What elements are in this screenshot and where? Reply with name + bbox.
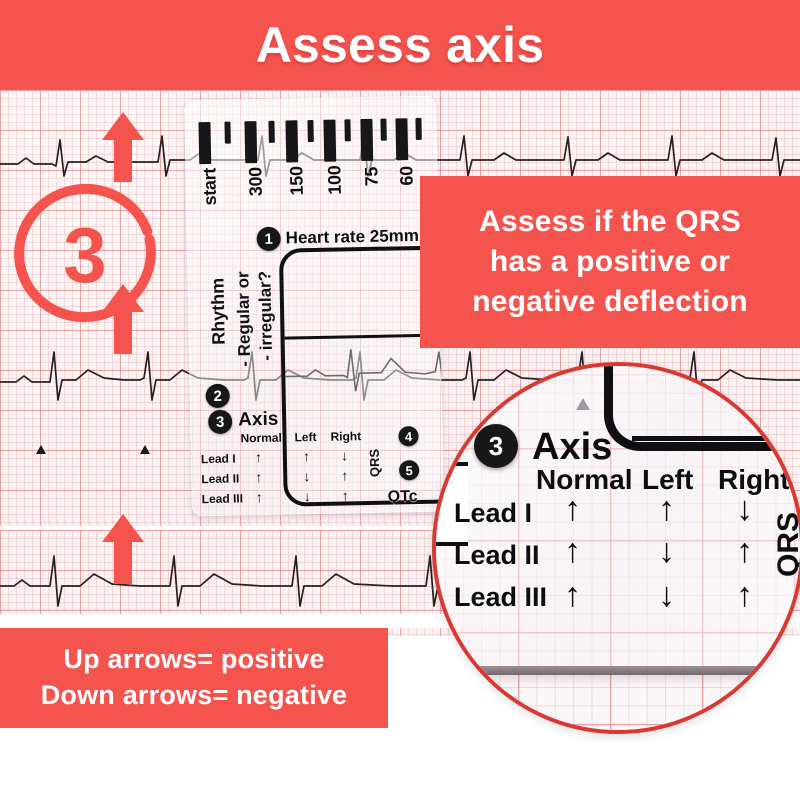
magnified-qrs-label: QRS (772, 512, 800, 577)
callout-qrs-deflection: Assess if the QRS has a positive or nega… (420, 176, 800, 348)
ruler-axis-col-normal: Normal (240, 431, 282, 446)
ruler-axis-col-right: Right (330, 429, 361, 444)
ruler-arrow-lead2-right: ↑ (341, 467, 348, 483)
step-5-label: QTc (388, 488, 418, 507)
ruler-tick (360, 119, 373, 161)
magnified-step-badge-3: 3 (474, 424, 518, 468)
magnified-arrow-lead2-left: ↓ (658, 534, 675, 568)
ruler-axis-qrs-label: QRS (367, 449, 383, 477)
page-title: Assess axis (256, 16, 545, 74)
beat-marker-triangle (140, 445, 150, 454)
ruler-tick (198, 122, 211, 164)
callout-right-line-1: Assess if the QRS (479, 202, 741, 242)
magnified-arrow-lead3-right: ↑ (736, 578, 753, 612)
ruler-tick (415, 118, 421, 140)
ruler-tick (395, 118, 408, 160)
callout-bottom-line-1: Up arrows= positive (63, 642, 324, 678)
magnified-row-lead3: Lead III (454, 582, 547, 613)
step-3-label: Axis (238, 409, 279, 432)
ruler-axis-row-lead3: Lead III (202, 491, 244, 506)
magnified-arrow-lead1-left: ↑ (658, 492, 675, 526)
ruler-tick (380, 119, 386, 141)
step-1-label: Heart rate 25mm. (286, 226, 424, 249)
circle-annotation-number: 3 (63, 211, 106, 299)
ruler-scale-label-60: 60 (396, 166, 417, 186)
ruler-arrow-lead1-right: ↓ (341, 447, 348, 463)
ruler-tick (244, 121, 257, 163)
magnified-col-normal: Normal (536, 464, 632, 496)
ruler-scale-label-300: 300 (245, 167, 267, 197)
step-2-label: Rhythm (207, 278, 229, 345)
magnified-arrow-lead1-right: ↓ (736, 492, 753, 526)
magnifier-zoom-circle: ∿∿ 3 Axis Normal Left Right Lead I Lead … (432, 362, 800, 734)
callout-right-line-3: negative deflection (472, 282, 748, 322)
magnified-triangle-marker (576, 398, 590, 410)
ruler-arrow-lead2-normal: ↑ (255, 469, 262, 485)
callout-arrow-legend: Up arrows= positive Down arrows= negativ… (0, 628, 388, 728)
magnified-axis-title: Axis (532, 426, 612, 469)
ruler-tick (344, 119, 350, 141)
ruler-tick (323, 120, 336, 162)
magnified-row-lead2: Lead II (454, 540, 540, 571)
magnified-row-lead1: Lead I (454, 498, 532, 529)
ruler-scale-label-150: 150 (286, 166, 308, 196)
ruler-arrow-lead2-left: ↓ (303, 468, 310, 484)
ruler-arrow-lead1-normal: ↑ (255, 449, 262, 465)
ruler-tick (224, 122, 230, 144)
ruler-arrow-lead3-left: ↓ (303, 488, 310, 504)
ruler-arrow-lead3-right: ↑ (341, 487, 348, 503)
magnified-col-right: Right (718, 464, 790, 496)
hand-drawn-circle-annotation: 3 (10, 177, 160, 327)
ruler-scale-label-start: start (199, 168, 221, 206)
magnified-arrow-lead3-left: ↓ (658, 578, 675, 612)
ruler-axis-row-lead2: Lead II (201, 471, 239, 486)
magnified-arrow-lead2-normal: ↑ (564, 534, 581, 568)
ruler-scale-label-100: 100 (324, 165, 346, 195)
ruler-axis-row-lead1: Lead I (201, 452, 236, 467)
magnified-arrow-lead3-normal: ↑ (564, 578, 581, 612)
magnified-ruler-edge (432, 666, 800, 675)
ruler-tick (307, 120, 313, 142)
infographic-canvas: Assess axis (0, 0, 800, 800)
ecg-ruler-card: start 300 150 100 75 60 1 Heart rate 25m… (184, 96, 444, 517)
up-arrow-marker (100, 512, 146, 586)
step-2-sub-regular: - Regular or (233, 271, 255, 367)
magnified-arrow-lead1-normal: ↑ (564, 492, 581, 526)
callout-bottom-line-2: Down arrows= negative (41, 678, 348, 714)
step-2-sub-irregular: - irregular? (255, 271, 277, 361)
up-arrow-marker (100, 110, 146, 184)
header-banner: Assess axis (0, 0, 800, 90)
ruler-tick (285, 120, 298, 162)
magnified-arrow-lead2-right: ↑ (736, 534, 753, 568)
ruler-arrow-lead1-left: ↑ (303, 448, 310, 464)
ruler-axis-col-left: Left (294, 430, 316, 444)
ruler-arrow-lead3-normal: ↑ (256, 489, 263, 505)
ruler-scale-label-75: 75 (361, 167, 382, 187)
beat-marker-triangle (36, 445, 46, 454)
ruler-tick (268, 121, 274, 143)
callout-right-line-2: has a positive or (490, 242, 730, 282)
magnified-box-divider (632, 436, 800, 441)
